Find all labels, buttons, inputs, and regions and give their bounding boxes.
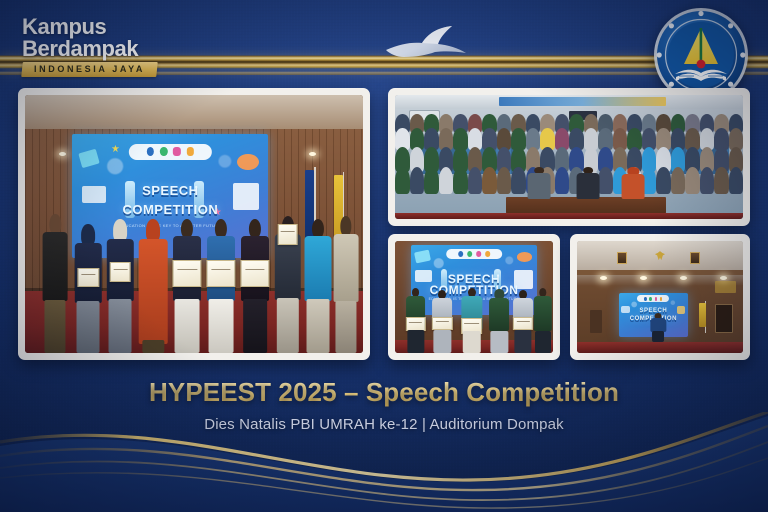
photo-group-image bbox=[395, 95, 743, 219]
bottom-gold-waves bbox=[0, 412, 768, 512]
banner-logo-pill bbox=[129, 144, 211, 160]
speaker-on-stage-photo: SPEECH COMPETITION bbox=[570, 234, 750, 360]
photo-stage-image: SPEECH COMPETITION bbox=[577, 241, 743, 353]
audience-group-photo bbox=[388, 88, 750, 226]
kampus-logo-line1: Kampus bbox=[22, 16, 202, 38]
banner-line1: SPEECH bbox=[72, 183, 268, 198]
poster-canvas: Kampus Berdampak INDONESIA JAYA bbox=[0, 0, 768, 512]
kampus-ribbon-label: INDONESIA JAYA bbox=[34, 64, 145, 74]
photo-main-image: SPEECH COMPETITION EDUCATION IS THE KEY … bbox=[25, 95, 363, 353]
photo-winners-image: SPEECH COMPETITION EDUCATION IS THE KEY … bbox=[395, 241, 553, 353]
kampus-logo-line2: Berdampak bbox=[22, 38, 202, 60]
award-winners-group-stage-photo: SPEECH COMPETITION EDUCATION IS THE KEY … bbox=[18, 88, 370, 360]
banner-line2: COMPETITION bbox=[72, 202, 268, 217]
kampus-logo-ribbon: INDONESIA JAYA bbox=[21, 62, 158, 77]
winners-certificate-photo: SPEECH COMPETITION EDUCATION IS THE KEY … bbox=[388, 234, 560, 360]
kampus-berdampak-logo: Kampus Berdampak INDONESIA JAYA bbox=[22, 16, 202, 77]
flying-seagull-icon bbox=[378, 24, 470, 64]
page-title: HYPEEST 2025 – Speech Competition bbox=[0, 378, 768, 408]
